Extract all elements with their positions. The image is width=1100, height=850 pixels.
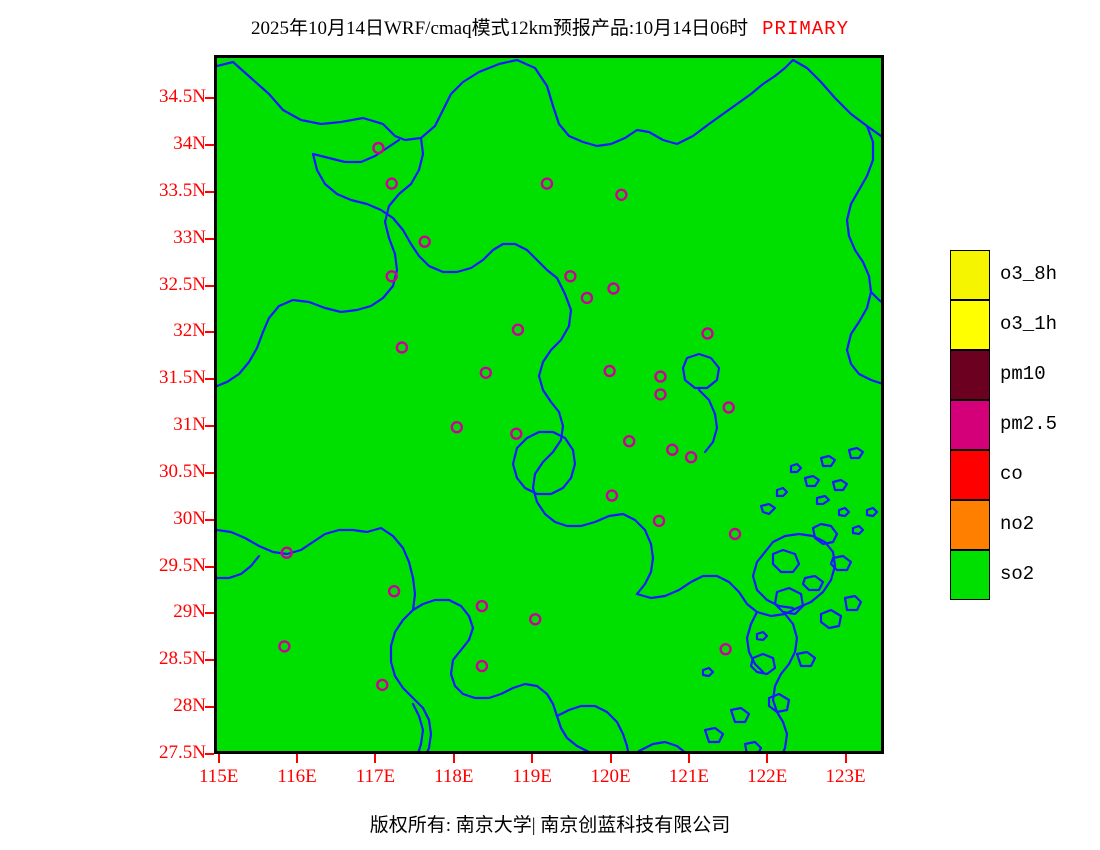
legend-item-o38h[interactable]: o3_8h	[950, 250, 1100, 300]
station-marker[interactable]	[654, 516, 664, 526]
primary-pollutant-tag: PRIMARY	[762, 18, 849, 40]
station-marker[interactable]	[565, 271, 575, 281]
legend-color-swatch	[950, 550, 990, 600]
x-axis-tick	[766, 754, 768, 763]
x-axis-tick	[296, 754, 298, 763]
x-axis-tick-label: 123E	[806, 766, 886, 788]
y-axis-tick	[205, 238, 214, 240]
x-axis-tick	[845, 754, 847, 763]
y-axis-tick-label: 28N	[173, 695, 206, 717]
y-axis-tick-label: 33N	[173, 227, 206, 249]
legend-item-o31h[interactable]: o3_1h	[950, 300, 1100, 350]
station-marker[interactable]	[542, 179, 552, 189]
y-axis-tick	[205, 706, 214, 708]
station-marker[interactable]	[477, 601, 487, 611]
map-plot-area[interactable]	[214, 55, 884, 754]
station-marker[interactable]	[373, 143, 383, 153]
y-axis-tick-label: 33.5N	[159, 180, 206, 202]
y-axis-tick-label: 30.5N	[159, 461, 206, 483]
y-axis-tick	[205, 285, 214, 287]
x-axis-labels: 115E116E117E118E119E120E121E122E123E	[214, 766, 884, 796]
x-axis-tick	[688, 754, 690, 763]
x-axis-tick	[531, 754, 533, 763]
station-marker[interactable]	[703, 329, 713, 339]
y-axis-tick-label: 27.5N	[159, 742, 206, 764]
legend-color-swatch	[950, 250, 990, 300]
station-marker[interactable]	[530, 614, 540, 624]
y-axis-tick	[205, 191, 214, 193]
legend-item-label: o3_1h	[1000, 313, 1057, 335]
y-axis-tick-label: 34N	[173, 133, 206, 155]
station-marker[interactable]	[387, 271, 397, 281]
station-marker[interactable]	[397, 343, 407, 353]
legend-item-pm10[interactable]: pm10	[950, 350, 1100, 400]
map-frame	[214, 55, 884, 754]
legend-item-label: pm10	[1000, 363, 1046, 385]
station-marker[interactable]	[686, 452, 696, 462]
x-axis-tick	[374, 754, 376, 763]
y-axis-tick	[205, 425, 214, 427]
x-axis-tick-label: 118E	[414, 766, 494, 788]
station-marker[interactable]	[511, 429, 521, 439]
station-marker[interactable]	[282, 548, 292, 558]
legend-item-label: pm2.5	[1000, 413, 1057, 435]
x-axis-tick-label: 117E	[335, 766, 415, 788]
station-marker[interactable]	[607, 491, 617, 501]
station-marker[interactable]	[721, 644, 731, 654]
y-axis-tick	[205, 659, 214, 661]
y-axis-tick	[205, 566, 214, 568]
station-marker[interactable]	[609, 284, 619, 294]
page-title-text: 2025年10月14日WRF/cmaq模式12km预报产品:10月14日06时	[251, 18, 748, 39]
station-marker[interactable]	[656, 372, 666, 382]
forecast-map-page: 2025年10月14日WRF/cmaq模式12km预报产品:10月14日06时P…	[0, 0, 1100, 850]
station-marker[interactable]	[513, 325, 523, 335]
page-title: 2025年10月14日WRF/cmaq模式12km预报产品:10月14日06时P…	[0, 13, 1100, 40]
y-axis-labels: 34.5N34N33.5N33N32.5N32N31.5N31N30.5N30N…	[60, 55, 206, 754]
y-axis-tick-label: 32N	[173, 320, 206, 342]
station-marker[interactable]	[616, 190, 626, 200]
station-marker[interactable]	[279, 641, 289, 651]
station-marker[interactable]	[730, 529, 740, 539]
legend-color-swatch	[950, 350, 990, 400]
legend-item-pm25[interactable]: pm2.5	[950, 400, 1100, 450]
y-axis-tick	[205, 612, 214, 614]
legend-item-label: so2	[1000, 563, 1034, 585]
y-axis-tick	[205, 97, 214, 99]
y-axis-tick-label: 31N	[173, 414, 206, 436]
y-axis-tick	[205, 331, 214, 333]
x-axis-tick-label: 122E	[727, 766, 807, 788]
x-axis-tick	[610, 754, 612, 763]
legend-item-so2[interactable]: so2	[950, 550, 1100, 600]
station-marker[interactable]	[377, 680, 387, 690]
copyright-footer: 版权所有: 南京大学| 南京创蓝科技有限公司	[0, 810, 1100, 837]
y-axis-tick	[205, 144, 214, 146]
station-markers	[217, 58, 884, 754]
pollutant-legend[interactable]: o3_8ho3_1hpm10pm2.5cono2so2	[950, 250, 1100, 600]
station-marker[interactable]	[477, 661, 487, 671]
x-axis-tick-label: 120E	[571, 766, 651, 788]
y-axis-tick	[205, 519, 214, 521]
station-marker[interactable]	[724, 403, 734, 413]
y-axis-tick-label: 34.5N	[159, 86, 206, 108]
y-axis-tick-label: 32.5N	[159, 274, 206, 296]
station-marker[interactable]	[387, 179, 397, 189]
y-axis-tick-label: 28.5N	[159, 648, 206, 670]
legend-color-swatch	[950, 450, 990, 500]
y-axis-tick	[205, 378, 214, 380]
station-marker[interactable]	[667, 445, 677, 455]
y-axis-tick-label: 29.5N	[159, 555, 206, 577]
station-marker[interactable]	[452, 422, 462, 432]
station-marker[interactable]	[624, 436, 634, 446]
x-axis-tick-label: 119E	[492, 766, 572, 788]
legend-color-swatch	[950, 400, 990, 450]
x-axis-tick-label: 121E	[649, 766, 729, 788]
legend-item-label: co	[1000, 463, 1023, 485]
station-marker[interactable]	[656, 389, 666, 399]
legend-item-label: o3_8h	[1000, 263, 1057, 285]
y-axis-tick-label: 30N	[173, 508, 206, 530]
station-marker[interactable]	[605, 366, 615, 376]
legend-item-no2[interactable]: no2	[950, 500, 1100, 550]
y-axis-tick	[205, 753, 214, 755]
station-marker[interactable]	[389, 586, 399, 596]
legend-color-swatch	[950, 300, 990, 350]
x-axis-tick-label: 115E	[179, 766, 259, 788]
x-axis-tick-label: 116E	[257, 766, 337, 788]
legend-item-label: no2	[1000, 513, 1034, 535]
station-marker[interactable]	[420, 237, 430, 247]
y-axis-tick-label: 29N	[173, 601, 206, 623]
x-axis-tick	[218, 754, 220, 763]
legend-color-swatch	[950, 500, 990, 550]
legend-item-co[interactable]: co	[950, 450, 1100, 500]
y-axis-tick	[205, 472, 214, 474]
station-marker[interactable]	[582, 293, 592, 303]
station-marker[interactable]	[481, 368, 491, 378]
y-axis-tick-label: 31.5N	[159, 367, 206, 389]
x-axis-tick	[453, 754, 455, 763]
